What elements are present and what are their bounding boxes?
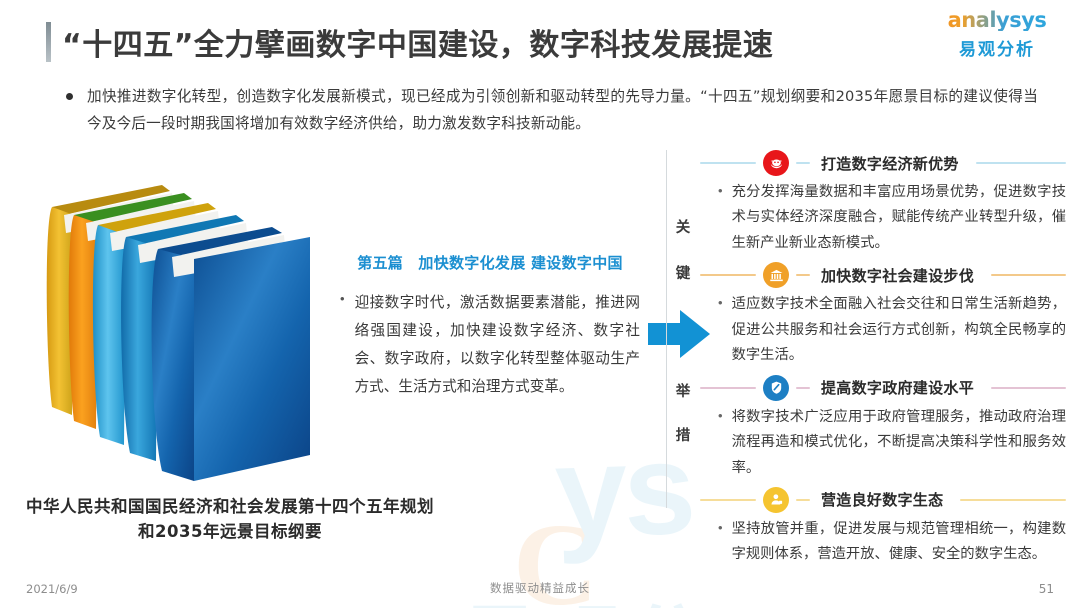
bullet-dot-icon: • <box>718 180 723 203</box>
measure-section-2-header: 加快数字社会建设步伐 <box>700 258 1066 292</box>
measure-section-1-title: 打造数字经济新优势 <box>817 153 969 174</box>
title-accent-bar <box>46 22 51 62</box>
measure-section-1: 打造数字经济新优势 • 充分发挥海量数据和丰富应用场景优势，促进数字技术与实体经… <box>700 146 1066 256</box>
key-measures-char-2: 键 <box>673 262 693 283</box>
divider-line-left <box>700 274 756 276</box>
divider-line-mid <box>796 499 810 501</box>
bullet-dot-icon <box>66 93 73 100</box>
logo-wordmark: analysys <box>934 10 1060 31</box>
divider-line-mid <box>796 162 810 164</box>
divider-line-left <box>700 499 756 501</box>
lead-paragraph-text: 加快推进数字化转型，创造数字化发展新模式，现已经成为引领创新和驱动转型的先导力量… <box>87 84 1038 138</box>
key-measures-panel: 打造数字经济新优势 • 充分发挥海量数据和丰富应用场景优势，促进数字技术与实体经… <box>700 146 1066 570</box>
bullet-dot-icon: • <box>718 517 723 540</box>
arrow-shaft <box>648 323 682 345</box>
measure-section-4-text: 坚持放管并重，促进发展与规范管理相统一，构建数字规则体系，营造开放、健康、安全的… <box>732 517 1066 568</box>
measure-section-3-body: • 将数字技术广泛应用于政府管理服务，推动政府治理流程再造和模式优化，不断提高决… <box>700 405 1066 481</box>
shield-icon <box>763 375 789 401</box>
measure-section-2-body: • 适应数字技术全面融入社会交往和日常生活新趋势，促进公共服务和社会运行方式创新… <box>700 292 1066 368</box>
page-title: “十四五”全力擘画数字中国建设，数字科技发展提速 <box>62 20 773 64</box>
bullet-dot-icon: • <box>340 289 345 310</box>
chapter-five-text: 迎接数字时代，激活数据要素潜能，推进网络强国建设，加快建设数字经济、数字社会、数… <box>355 289 640 401</box>
measure-section-2-title: 加快数字社会建设步伐 <box>817 265 984 286</box>
rocket-icon <box>763 150 789 176</box>
person-icon <box>763 487 789 513</box>
books-svg <box>44 165 319 490</box>
footer-page-number: 51 <box>1039 582 1054 596</box>
measure-section-3-title: 提高数字政府建设水平 <box>817 377 984 398</box>
measure-section-3: 提高数字政府建设水平 • 将数字技术广泛应用于政府管理服务，推动政府治理流程再造… <box>700 371 1066 481</box>
divider-line-mid <box>796 274 810 276</box>
key-measures-char-3: 举 <box>673 380 693 401</box>
measure-section-3-text: 将数字技术广泛应用于政府管理服务，推动政府治理流程再造和模式优化，不断提高决策科… <box>732 405 1066 481</box>
chapter-five-title: 第五篇 加快数字化发展 建设数字中国 <box>340 252 640 273</box>
divider-line-left <box>700 162 756 164</box>
slide-canvas: C ys 易观分 “十四五”全力擘画数字中国建设，数字科技发展提速 analys… <box>0 0 1080 608</box>
bank-building-icon <box>763 262 789 288</box>
measure-section-4-header: 营造良好数字生态 <box>700 483 1066 517</box>
divider-line-right <box>991 387 1066 389</box>
divider-line-right <box>976 162 1066 164</box>
footer-tagline: 数据驱动精益成长 <box>0 580 1080 596</box>
divider-line-mid <box>796 387 810 389</box>
measure-section-1-text: 充分发挥海量数据和丰富应用场景优势，促进数字技术与实体经济深度融合，赋能传统产业… <box>732 180 1066 256</box>
books-caption: 中华人民共和国国民经济和社会发展第十四个五年规划和2035年远景目标纲要 <box>20 495 440 545</box>
bullet-dot-icon: • <box>718 405 723 428</box>
panel-divider-rule <box>666 150 667 508</box>
divider-line-left <box>700 387 756 389</box>
books-illustration <box>44 165 319 490</box>
logo-chinese-name: 易观分析 <box>934 35 1060 60</box>
key-measures-char-4: 措 <box>673 424 693 445</box>
measure-section-2-text: 适应数字技术全面融入社会交往和日常生活新趋势，促进公共服务和社会运行方式创新，构… <box>732 292 1066 368</box>
divider-line-right <box>991 274 1066 276</box>
divider-line-right <box>960 499 1066 501</box>
analysys-logo: analysys 易观分析 <box>934 10 1060 60</box>
measure-section-3-header: 提高数字政府建设水平 <box>700 371 1066 405</box>
bullet-dot-icon: • <box>718 292 723 315</box>
key-measures-char-1: 关 <box>673 216 693 237</box>
measure-section-4-body: • 坚持放管并重，促进发展与规范管理相统一，构建数字规则体系，营造开放、健康、安… <box>700 517 1066 568</box>
measure-section-1-body: • 充分发挥海量数据和丰富应用场景优势，促进数字技术与实体经济深度融合，赋能传统… <box>700 180 1066 256</box>
measure-section-2: 加快数字社会建设步伐 • 适应数字技术全面融入社会交往和日常生活新趋势，促进公共… <box>700 258 1066 368</box>
lead-paragraph: 加快推进数字化转型，创造数字化发展新模式，现已经成为引领创新和驱动转型的先导力量… <box>66 84 1038 138</box>
measure-section-4: 营造良好数字生态 • 坚持放管并重，促进发展与规范管理相统一，构建数字规则体系，… <box>700 483 1066 568</box>
chapter-five-body: • 迎接数字时代，激活数据要素潜能，推进网络强国建设，加快建设数字经济、数字社会… <box>340 289 640 401</box>
middle-column: 第五篇 加快数字化发展 建设数字中国 • 迎接数字时代，激活数据要素潜能，推进网… <box>340 252 640 401</box>
measure-section-1-header: 打造数字经济新优势 <box>700 146 1066 180</box>
measure-section-4-title: 营造良好数字生态 <box>817 489 953 510</box>
